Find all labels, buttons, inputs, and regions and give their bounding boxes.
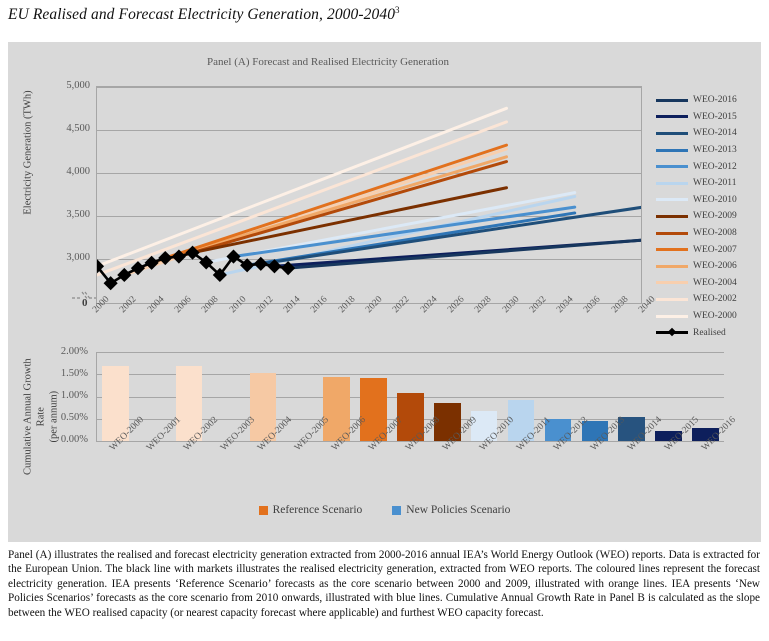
legend-swatch-icon xyxy=(656,198,688,201)
panel-a-series-svg xyxy=(97,87,642,304)
legend-swatch-icon xyxy=(656,331,688,334)
panel-a-ytick-3000: 3,000 xyxy=(28,252,90,263)
panel-b-ytick-000: 0.00% xyxy=(30,434,88,445)
realised-marker xyxy=(254,257,268,271)
legend-item-weo-2014[interactable]: WEO-2014 xyxy=(656,125,761,142)
legend-swatch-icon xyxy=(656,281,688,284)
legend-item-weo-2004[interactable]: WEO-2004 xyxy=(656,275,761,292)
forecast-line-weo-2016 xyxy=(288,240,642,268)
panel-b-ytick-100: 1.00% xyxy=(30,390,88,401)
legend-swatch-icon xyxy=(656,115,688,118)
forecast-line-weo-2006 xyxy=(152,157,507,263)
legend-swatch-icon xyxy=(656,215,688,218)
legend-swatch-icon xyxy=(656,298,688,301)
legend-item-label: WEO-2004 xyxy=(693,278,737,288)
realised-marker xyxy=(281,261,295,275)
panel-b-ytick-150: 1.50% xyxy=(30,368,88,379)
panel-a-plot-area xyxy=(96,86,642,304)
legend-item-label: WEO-2007 xyxy=(693,245,737,255)
legend-item-weo-2000[interactable]: WEO-2000 xyxy=(656,308,761,325)
panel-b-legend: Reference ScenarioNew Policies Scenario xyxy=(8,504,761,516)
forecast-line-weo-2008 xyxy=(179,162,507,257)
panel-a-ytick-3500: 3,500 xyxy=(28,209,90,220)
legend-swatch-icon xyxy=(259,506,268,515)
figure-title-footnote-marker: 3 xyxy=(395,5,400,15)
legend-item-label: WEO-2014 xyxy=(693,128,737,138)
figure-title-text: EU Realised and Forecast Electricity Gen… xyxy=(8,6,395,23)
chart-canvas: Panel (A) Forecast and Realised Electric… xyxy=(8,42,761,542)
panel-b-legend-item-reference-scenario[interactable]: Reference Scenario xyxy=(259,504,363,516)
legend-item-weo-2007[interactable]: WEO-2007 xyxy=(656,241,761,258)
panel-b-plot-area xyxy=(96,352,724,442)
legend-item-weo-2015[interactable]: WEO-2015 xyxy=(656,109,761,126)
panel-a-ytick-4500: 4,500 xyxy=(28,123,90,134)
panel-b-bars xyxy=(97,352,724,441)
legend-item-label: WEO-2013 xyxy=(693,145,737,155)
panel-b-ytick-200: 2.00% xyxy=(30,346,88,357)
legend-swatch-icon xyxy=(656,99,688,102)
panel-a-legend: WEO-2016WEO-2015WEO-2014WEO-2013WEO-2012… xyxy=(656,92,761,341)
legend-swatch-icon xyxy=(392,506,401,515)
legend-swatch-icon xyxy=(656,149,688,152)
figure-caption: Panel (A) illustrates the realised and f… xyxy=(8,548,760,620)
legend-item-label: WEO-2008 xyxy=(693,228,737,238)
panel-b-legend-item-new-policies-scenario[interactable]: New Policies Scenario xyxy=(392,504,510,516)
legend-item-label: WEO-2016 xyxy=(693,95,737,105)
legend-item-weo-2009[interactable]: WEO-2009 xyxy=(656,208,761,225)
legend-item-label: WEO-2015 xyxy=(693,112,737,122)
legend-item-weo-2010[interactable]: WEO-2010 xyxy=(656,192,761,209)
legend-item-weo-2011[interactable]: WEO-2011 xyxy=(656,175,761,192)
panel-a-ytick-5000: 5,000 xyxy=(28,80,90,91)
legend-swatch-icon xyxy=(656,232,688,235)
legend-item-weo-2008[interactable]: WEO-2008 xyxy=(656,225,761,242)
panel-a-title: Panel (A) Forecast and Realised Electric… xyxy=(8,56,648,68)
panel-b-legend-item-label: Reference Scenario xyxy=(273,504,363,516)
forecast-line-weo-2000 xyxy=(97,108,507,266)
legend-item-weo-2002[interactable]: WEO-2002 xyxy=(656,291,761,308)
panel-a-ytick-4000: 4,000 xyxy=(28,166,90,177)
legend-item-realised[interactable]: Realised xyxy=(656,324,761,341)
legend-item-label: WEO-2002 xyxy=(693,294,737,304)
legend-swatch-icon xyxy=(656,248,688,251)
legend-item-label: WEO-2000 xyxy=(693,311,737,321)
legend-swatch-icon xyxy=(656,132,688,135)
legend-item-label: WEO-2006 xyxy=(693,261,737,271)
legend-item-weo-2006[interactable]: WEO-2006 xyxy=(656,258,761,275)
panel-b-legend-item-label: New Policies Scenario xyxy=(406,504,510,516)
legend-item-label: WEO-2012 xyxy=(693,162,737,172)
panel-b-ytick-050: 0.50% xyxy=(30,412,88,423)
realised-marker xyxy=(117,268,131,282)
legend-swatch-icon xyxy=(656,182,688,185)
y-axis-break-icon xyxy=(72,289,98,301)
forecast-line-weo-2002 xyxy=(97,122,507,275)
figure-title: EU Realised and Forecast Electricity Gen… xyxy=(8,5,748,24)
legend-item-label: WEO-2010 xyxy=(693,195,737,205)
legend-item-weo-2012[interactable]: WEO-2012 xyxy=(656,158,761,175)
legend-item-weo-2013[interactable]: WEO-2013 xyxy=(656,142,761,159)
legend-swatch-icon xyxy=(656,265,688,268)
legend-swatch-icon xyxy=(656,315,688,318)
legend-item-label: WEO-2011 xyxy=(693,178,736,188)
legend-swatch-icon xyxy=(656,165,688,168)
legend-item-label: Realised xyxy=(693,328,726,338)
legend-item-label: WEO-2009 xyxy=(693,211,737,221)
legend-item-weo-2016[interactable]: WEO-2016 xyxy=(656,92,761,109)
